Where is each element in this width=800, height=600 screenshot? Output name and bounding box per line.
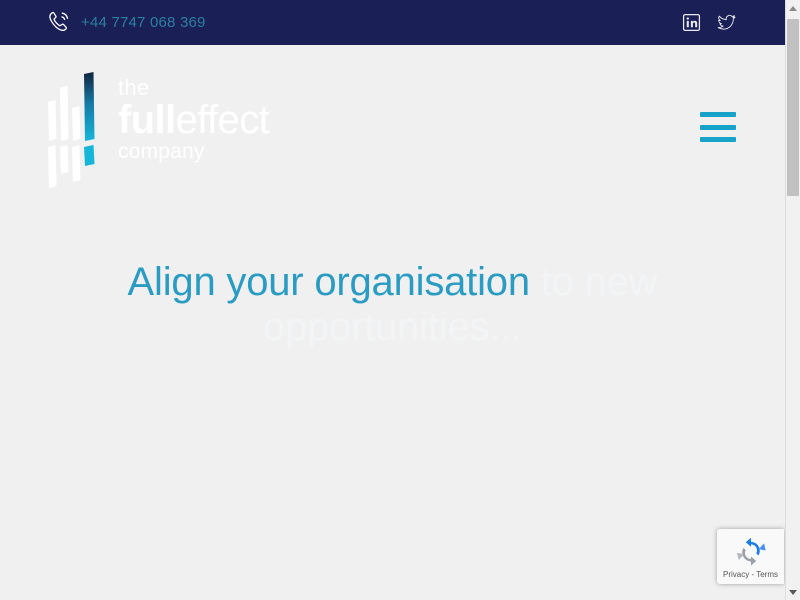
hamburger-bar-2 [700, 125, 736, 130]
headline-accent-text: Align your organisation [128, 260, 530, 304]
hamburger-bar-1 [700, 112, 736, 117]
recaptcha-privacy-terms[interactable]: Privacy - Terms [723, 570, 778, 579]
social-links [682, 13, 736, 32]
down-arrow-glyph [789, 590, 797, 595]
up-arrow-glyph [789, 6, 797, 11]
bar-chart-logo-mark [46, 68, 108, 188]
hamburger-menu-icon[interactable] [700, 112, 736, 142]
linkedin-icon[interactable] [682, 13, 701, 32]
phone-call-icon [46, 9, 72, 35]
logo-wordmark: the fulleffect company [118, 68, 269, 162]
scrollbar-thumb[interactable] [787, 19, 799, 196]
logo-word-effect: effect [176, 98, 270, 142]
twitter-icon[interactable] [717, 13, 736, 32]
recaptcha-badge[interactable]: Privacy - Terms [717, 529, 784, 584]
scroll-up-arrow-icon[interactable] [786, 0, 800, 16]
site-logo[interactable]: the fulleffect company [46, 68, 269, 188]
page-viewport: +44 7747 068 369 [0, 0, 785, 600]
phone-link[interactable]: +44 7747 068 369 [46, 9, 206, 35]
logo-line-the: the [118, 77, 269, 99]
logo-line-company: company [118, 141, 269, 162]
hamburger-bar-3 [700, 137, 736, 142]
phone-number-text: +44 7747 068 369 [81, 14, 206, 31]
recaptcha-logo-icon [736, 537, 766, 567]
logo-word-full: full [118, 98, 176, 142]
logo-line-full-effect: fulleffect [118, 100, 269, 140]
hero-headline: Align your organisation to new opportuni… [0, 260, 785, 350]
top-utility-bar: +44 7747 068 369 [0, 0, 785, 45]
scroll-down-arrow-icon[interactable] [786, 584, 800, 600]
vertical-scrollbar[interactable] [785, 0, 800, 600]
